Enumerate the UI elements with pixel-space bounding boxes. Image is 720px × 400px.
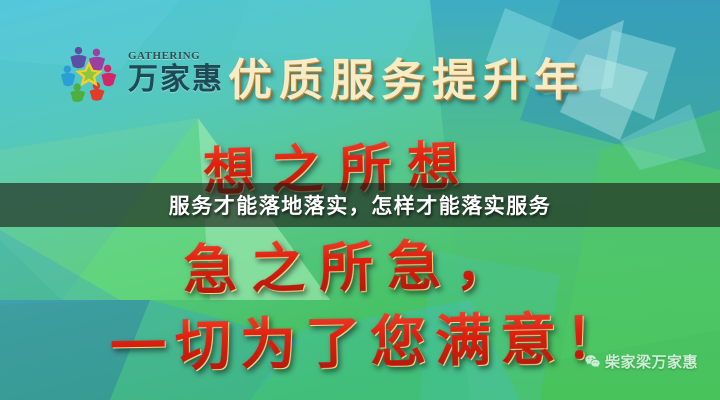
wechat-icon — [584, 353, 601, 370]
slogan-line-2: 急之所急， — [182, 220, 523, 305]
wechat-watermark: 柴家梁万家惠 — [584, 351, 698, 372]
brand-chinese-name: 万家惠 — [128, 65, 224, 95]
brand-logo: Gathering 万家惠 — [58, 40, 224, 102]
slogan-line-3: 一切为了您满意！ — [109, 293, 630, 383]
caption-band: 服务才能落地落实，怎样才能落实服务 — [0, 183, 720, 227]
gathering-circle-people-emblem-icon — [58, 40, 120, 102]
watermark-text: 柴家梁万家惠 — [605, 351, 698, 372]
poster-image: Gathering 万家惠 优质服务提升年 想之所想 急之所急， 一切为了您满意… — [0, 0, 720, 400]
headline-text: 优质服务提升年 — [228, 44, 585, 108]
caption-text: 服务才能落地落实，怎样才能落实服务 — [169, 190, 552, 220]
brand-english-name: Gathering — [128, 48, 200, 63]
